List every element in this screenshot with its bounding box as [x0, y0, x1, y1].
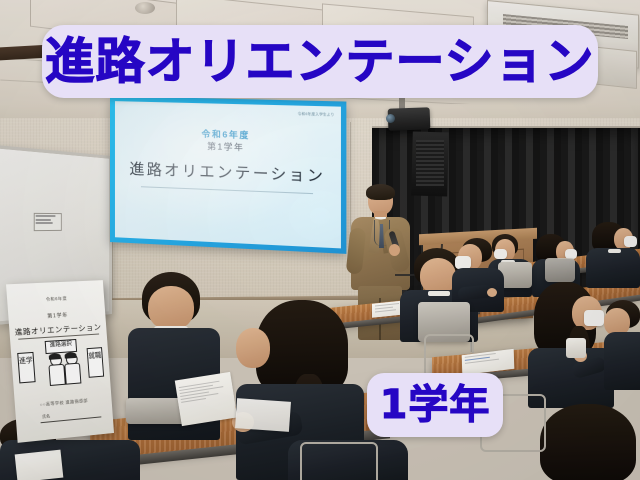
whiteboard-notice [34, 213, 62, 231]
presenter-hair [366, 184, 395, 200]
paper-handout [15, 450, 64, 480]
handout-option-left: 進学 [17, 352, 35, 384]
projection-screen: 令和6年度入学生より 令和6年度 第1学年 進路オリエンテーション [110, 96, 346, 254]
title-banner-text: 進路オリエンテーション [45, 37, 594, 86]
list-item [452, 238, 504, 312]
slide-title: 進路オリエンテーション [115, 157, 341, 187]
photo-canvas: 令和6年度入学生より 令和6年度 第1学年 進路オリエンテーション [0, 0, 640, 480]
paper-handout [175, 372, 238, 426]
handout-footer: ○○高等学校 進路指導部 [15, 396, 112, 411]
drink-cup [566, 338, 586, 358]
title-banner: 進路オリエンテーション [42, 25, 598, 98]
paper-handout [235, 398, 291, 432]
handout-signature-label: 氏名 [42, 413, 50, 420]
slide-corner-note: 令和6年度入学生より [298, 111, 335, 117]
list-item [586, 222, 640, 286]
chair-frame [300, 442, 378, 480]
grade-badge: 1学年 [367, 373, 503, 437]
speaker-grill-icon [416, 140, 444, 186]
handout-year: 令和6年度 [7, 294, 104, 305]
person-illustration-icon [64, 353, 80, 384]
slide-surface: 令和6年度入学生より 令和6年度 第1学年 進路オリエンテーション [115, 101, 341, 248]
handout-grade: 第1学年 [8, 310, 105, 322]
list-item [604, 300, 640, 390]
handout-poster: 令和6年度 第1学年 進路オリエンテーション 進路選択 進学 就職 ○○高等学校… [6, 280, 114, 443]
ceiling-fixture-icon [135, 2, 155, 14]
projector-lens-icon [386, 114, 395, 123]
handout-diagram: 進路選択 進学 就職 [16, 337, 105, 397]
slide-divider [141, 186, 313, 194]
grade-badge-text: 1学年 [380, 385, 491, 425]
handout-option-right: 就職 [87, 347, 105, 378]
chair [545, 258, 575, 282]
list-item [540, 404, 640, 480]
person-illustration-icon [48, 354, 64, 385]
